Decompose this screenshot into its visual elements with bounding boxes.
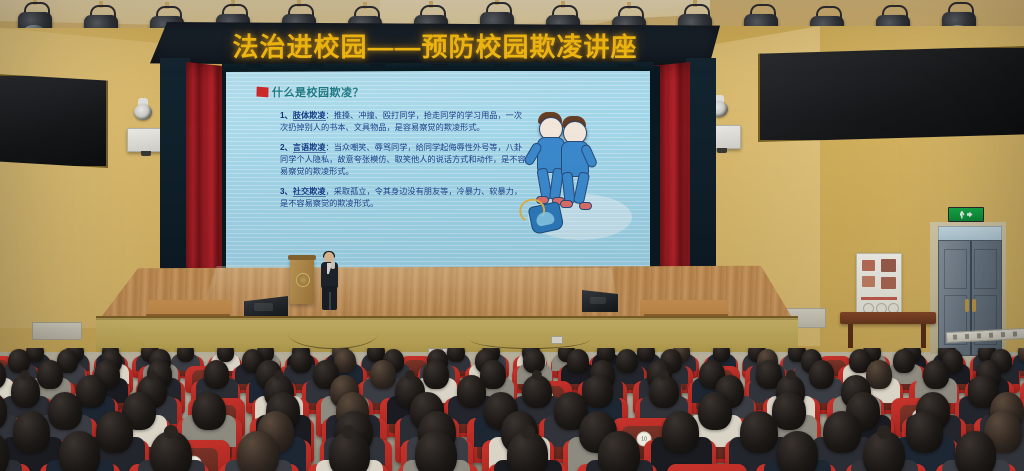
audience-member-head [13,411,51,453]
stage-cable-2 [470,330,590,349]
proscenium-banner: 法治进校园——预防校园欺凌讲座 [150,22,720,68]
audience-member-head [772,392,806,430]
audience-member-head [457,375,487,408]
audience-member-head [415,431,457,471]
audience-member-head [955,431,997,471]
banner-title: 法治进校园——预防校园欺凌讲座 [150,22,720,68]
vent-left [32,322,82,340]
audience-member-head [863,431,905,471]
screen-clip [494,64,510,72]
audience-member-head [522,375,552,408]
slide-bullet: 2、言语欺凌：当众嘲笑、辱骂同学，给同学起侮辱性外号等，八卦同学个人隐私，故意夸… [280,142,530,177]
audience-member-head [777,431,819,471]
screen-clip [246,64,262,72]
projection-screen: 什么是校园欺凌？ 1、肢体欺凌：推搡、冲撞、殴打同学，抢走同学的学习用品，一次次… [226,70,650,274]
screen-clip [308,64,324,72]
audience-member-head [192,392,226,430]
running-person-icon [960,211,965,219]
slide-bullet: 3、社交欺凌，采取孤立，令其身边没有朋友等，冷暴力、软暴力，是不容易察觉的欺凌形… [280,186,530,209]
audience-member-head [923,360,949,389]
audience-member-head [48,392,82,430]
audience-member-head [96,411,134,453]
audience-member-head [150,431,192,471]
audience-member-head [583,375,613,408]
slide-bullet-number: 1、 [280,111,293,120]
slide-bullet: 1、肢体欺凌：推搡、冲撞、殴打同学，抢走同学的学习用品，一次次扔掉别人的书本、文… [280,110,530,133]
screen-clip [556,64,572,72]
audience-member-head [204,360,230,389]
audience-member-head [698,392,732,430]
audience-member-head [59,431,101,471]
audience-member-head [329,431,371,471]
audience-member-head [598,431,640,471]
audience-member-head [662,411,700,453]
audience-member-head [37,360,63,389]
curtain-back-left [160,58,190,283]
slide-illustration [522,98,642,248]
podium [290,258,314,304]
slide-bullet-number: 2、 [280,143,293,152]
screen-clip [432,64,448,72]
audience-member-head [823,411,861,453]
slide-bullet-number: 3、 [280,187,293,196]
display-left [0,74,108,168]
audience-member-head [809,360,835,389]
audience-member-head [649,375,679,408]
slide-title-badge-icon [255,85,269,98]
audience-member-head [523,349,545,373]
audience-member-head [447,348,465,362]
auditorium-seat[interactable]: 3 [667,464,747,471]
slide-title: 什么是校园欺凌？ [256,84,364,100]
slide-bullet-lead: 社交欺凌 [293,187,326,197]
audience-member-head [8,349,30,373]
audience-member-head [507,431,549,471]
arrow-right-icon [967,212,973,218]
audience-member-head [740,411,778,453]
slide-body: 1、肢体欺凌：推搡、冲撞、殴打同学，抢走同学的学习用品，一次次扔掉别人的书本、文… [280,110,530,218]
audience-member-head [906,411,944,453]
microphone-icon [331,261,335,269]
stage-cable-1 [288,318,378,349]
safety-poster [856,253,902,319]
auditorium-scene: 法治进校园——预防校园欺凌讲座 什么是校园欺凌？ 1、肢体欺凌：推搡、冲撞、殴打… [0,0,1024,471]
display-right [758,46,1024,142]
screen-clip [370,64,386,72]
slide-bullet-lead: 肢体欺凌 [293,111,326,121]
audience-member-head [637,348,655,362]
audience-member-head [567,349,589,373]
audience-member-head [893,349,915,373]
audience-member-head [290,349,312,373]
dome-camera-left [134,98,152,120]
curtain-back-right [686,58,716,280]
audience-member-head [237,431,279,471]
slide-bullet-lead: 言语欺凌 [293,143,326,153]
screen-clip [618,64,634,72]
presenter [318,252,340,310]
audience-member-head [423,360,449,389]
stage-curtain-left [186,62,226,282]
audience-member-head [11,375,41,408]
slide-title-text: 什么是校园欺凌？ [272,84,364,100]
audience-member-head [616,349,638,373]
wooden-bench [840,312,936,324]
emergency-exit-sign [948,207,984,222]
podium-emblem-icon [296,273,310,287]
audience-member-head [370,360,396,389]
audience-seating: 7891011121234567891011121210111212345678… [0,348,1024,471]
